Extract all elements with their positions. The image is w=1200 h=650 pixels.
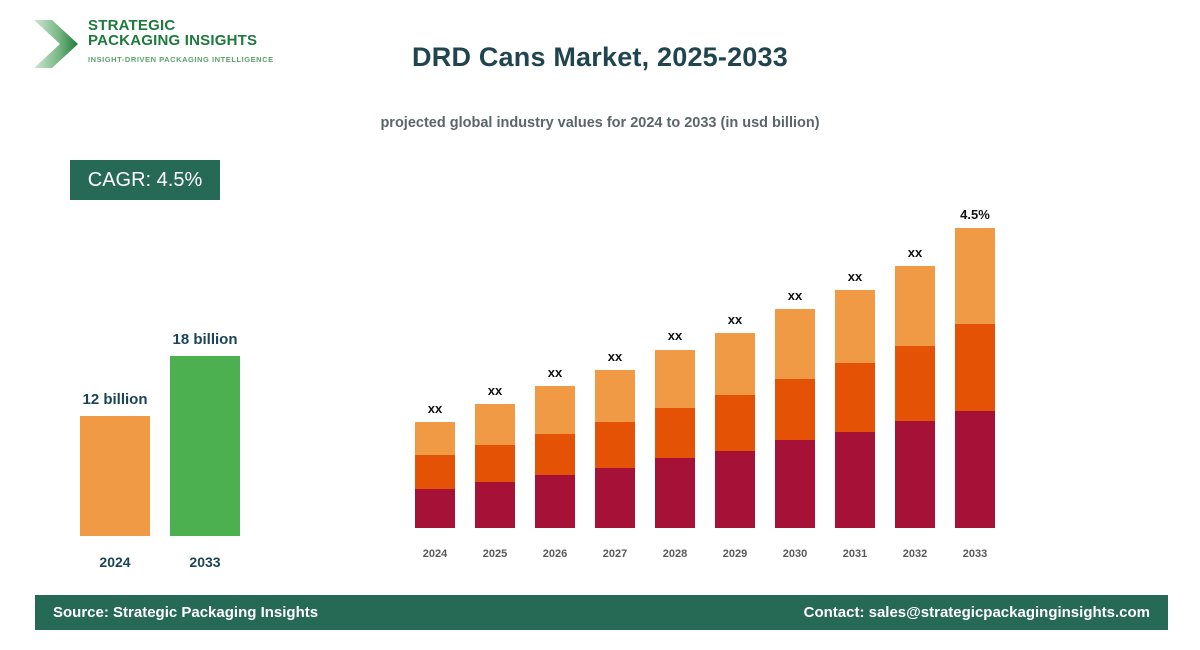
stacked-bar-top-label: xx	[825, 269, 885, 284]
stacked-forecast-chart: xx2024xx2025xx2026xx2027xx2028xx2029xx20…	[400, 200, 1020, 560]
stacked-bar-segment	[955, 411, 995, 528]
footer-contact: Contact: sales@strategicpackaginginsight…	[804, 595, 1150, 630]
stacked-bar	[955, 228, 995, 528]
stacked-bar-top-label: xx	[465, 383, 525, 398]
stacked-bar-top-label: xx	[705, 312, 765, 327]
comparison-value-label: 18 billion	[110, 331, 300, 348]
stacked-bar-top-label: xx	[525, 365, 585, 380]
stacked-bar-segment	[895, 266, 935, 346]
stacked-bar-segment	[895, 346, 935, 421]
stacked-bar-segment	[655, 408, 695, 459]
brand-name-line1: STRATEGIC	[88, 18, 274, 33]
stacked-bar-segment	[775, 379, 815, 440]
stacked-bar-year-label: 2027	[585, 548, 645, 560]
stacked-bar-segment	[475, 404, 515, 444]
footer-source: Source: Strategic Packaging Insights	[53, 595, 318, 630]
stacked-bar-segment	[535, 434, 575, 475]
stacked-bar	[835, 290, 875, 528]
stacked-bar-segment	[415, 455, 455, 489]
stacked-bar-top-label: xx	[405, 401, 465, 416]
stacked-bar	[715, 333, 755, 528]
stacked-bar-segment	[595, 468, 635, 528]
comparison-year-label: 2024	[80, 554, 150, 570]
page-subtitle: projected global industry values for 202…	[0, 115, 1200, 131]
stacked-bar-year-label: 2025	[465, 548, 525, 560]
stacked-bar	[415, 422, 455, 528]
stacked-bar-segment	[955, 324, 995, 411]
stacked-bar-segment	[835, 290, 875, 363]
stacked-bar-segment	[955, 228, 995, 324]
stacked-bar-segment	[415, 489, 455, 528]
stacked-bar-segment	[835, 363, 875, 432]
stacked-bar-top-label: xx	[585, 349, 645, 364]
stacked-bar-segment	[715, 395, 755, 451]
stacked-bar-segment	[835, 432, 875, 528]
stacked-bar-segment	[415, 422, 455, 455]
comparison-column: 18 billion	[170, 336, 240, 536]
stacked-bar-segment	[475, 482, 515, 528]
comparison-bar	[170, 356, 240, 536]
stacked-bar	[475, 404, 515, 528]
stacked-bar-top-label: xx	[885, 245, 945, 260]
stacked-bar	[595, 370, 635, 528]
comparison-column: 12 billion	[80, 336, 150, 536]
stacked-bar-segment	[595, 370, 635, 423]
stacked-bar	[895, 266, 935, 528]
comparison-chart: 12 billion202418 billion2033	[55, 300, 285, 570]
stacked-bar-segment	[715, 333, 755, 395]
stacked-bar-year-label: 2030	[765, 548, 825, 560]
cagr-badge: CAGR: 4.5%	[70, 160, 220, 200]
comparison-bar	[80, 416, 150, 536]
stacked-bar-segment	[535, 386, 575, 434]
stacked-bar	[655, 350, 695, 529]
stacked-bar-segment	[775, 309, 815, 379]
stacked-bar-year-label: 2031	[825, 548, 885, 560]
stacked-bar-year-label: 2026	[525, 548, 585, 560]
stacked-bar-top-label: xx	[765, 288, 825, 303]
stacked-bar-segment	[535, 475, 575, 528]
stacked-bar-segment	[895, 421, 935, 528]
stacked-bar-year-label: 2029	[705, 548, 765, 560]
stacked-bar-segment	[475, 445, 515, 482]
stacked-bar-year-label: 2024	[405, 548, 465, 560]
stacked-bar-year-label: 2032	[885, 548, 945, 560]
stacked-bar-segment	[655, 350, 695, 408]
stacked-bar-year-label: 2028	[645, 548, 705, 560]
stacked-bar-segment	[595, 422, 635, 467]
stacked-bar-top-label: 4.5%	[945, 207, 1005, 222]
stacked-bar	[775, 309, 815, 528]
comparison-year-label: 2033	[170, 554, 240, 570]
page-title: DRD Cans Market, 2025-2033	[0, 42, 1200, 73]
stacked-bar	[535, 386, 575, 528]
footer-bar: Source: Strategic Packaging Insights Con…	[35, 595, 1168, 630]
stacked-bar-segment	[715, 451, 755, 528]
stacked-bar-segment	[655, 458, 695, 528]
stacked-bar-segment	[775, 440, 815, 528]
stacked-bar-top-label: xx	[645, 328, 705, 343]
stacked-bar-year-label: 2033	[945, 548, 1005, 560]
